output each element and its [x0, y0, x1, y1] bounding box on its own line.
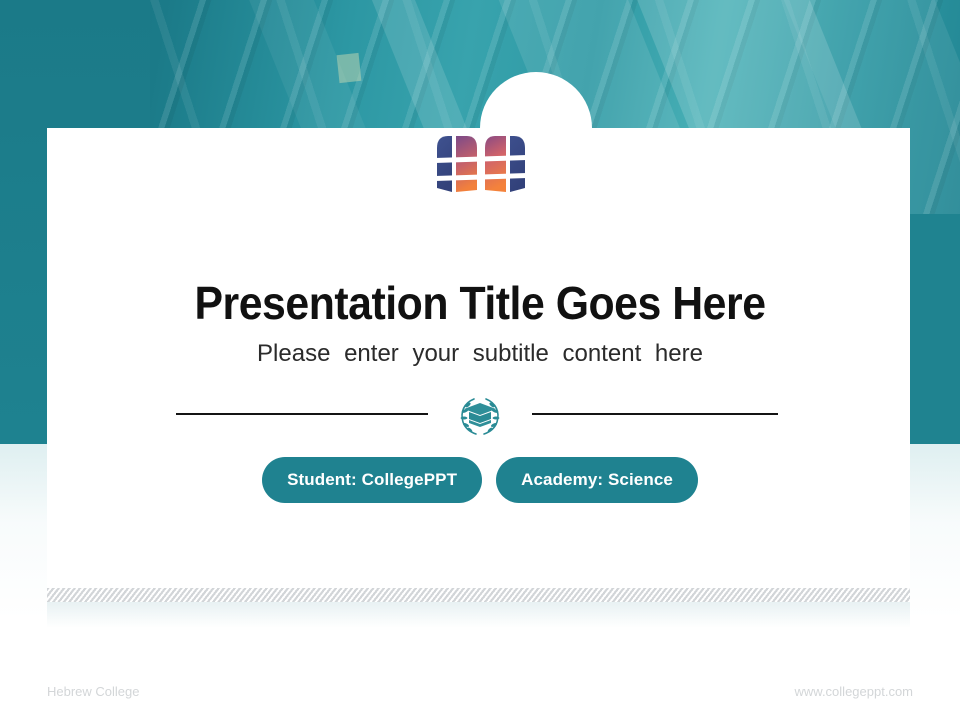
hatched-strip-shadow	[47, 602, 910, 628]
divider-rule-left	[176, 413, 428, 415]
slide-title: Presentation Title Goes Here	[34, 276, 927, 330]
graduation-cap-laurel-icon	[455, 392, 505, 438]
footer-institution: Hebrew College	[47, 684, 140, 699]
divider	[0, 392, 960, 438]
hatched-strip	[47, 588, 910, 602]
presentation-slide: Presentation Title Goes Here Please ente…	[0, 0, 960, 720]
footer-website: www.collegeppt.com	[795, 684, 914, 699]
photo-sign-detail	[337, 53, 362, 83]
open-book-window-logo-icon	[433, 128, 529, 200]
footer: Hebrew College www.collegeppt.com	[0, 684, 960, 706]
slide-subtitle: Please enter your subtitle content here	[0, 340, 960, 368]
divider-rule-right	[532, 413, 778, 415]
badge-student[interactable]: Student: CollegePPT	[262, 457, 482, 503]
badge-row: Student: CollegePPT Academy: Science	[0, 457, 960, 503]
badge-academy[interactable]: Academy: Science	[496, 457, 698, 503]
